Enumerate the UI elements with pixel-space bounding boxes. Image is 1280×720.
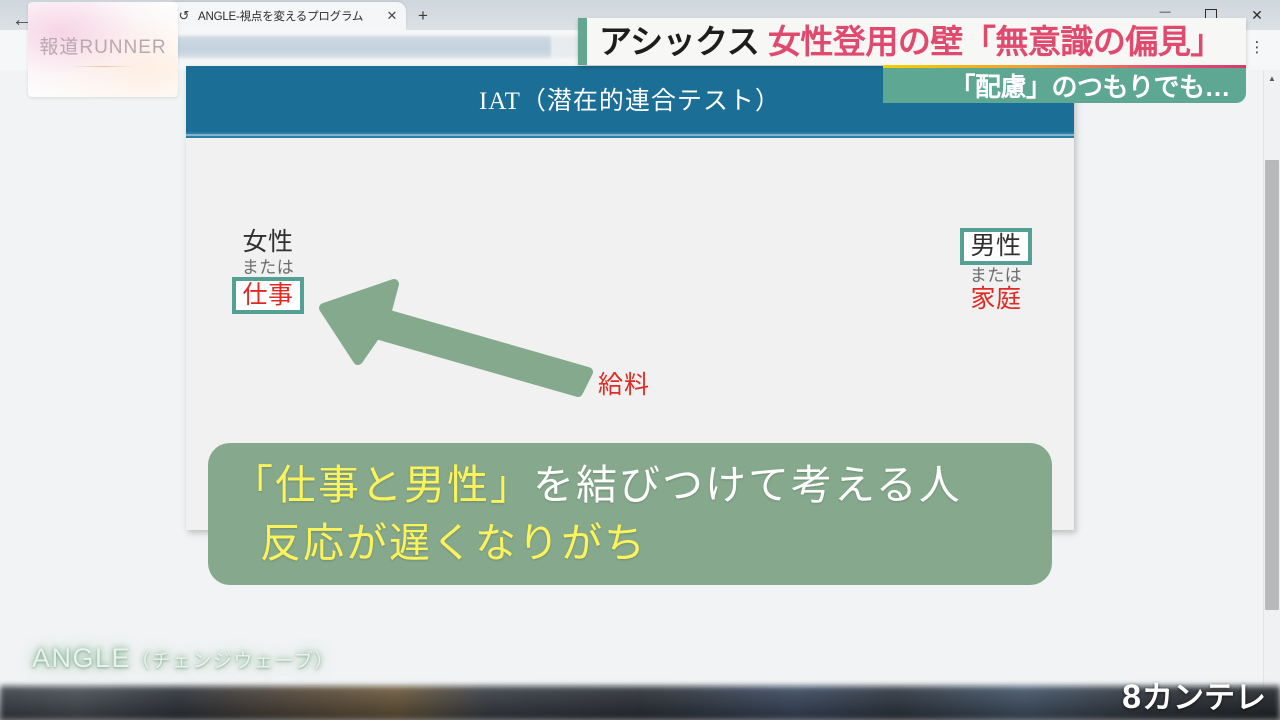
tab-favicon-icon: ↺ [176, 8, 192, 24]
green-arrow-icon [316, 276, 606, 386]
broadcast-subheadline-banner: 「配慮」のつもりでも… [883, 68, 1246, 103]
caption-line-2: 反応が遅くなりがち [232, 514, 1032, 572]
scrollbar-thumb[interactable] [1265, 160, 1279, 610]
program-watermark-rule [71, 66, 135, 68]
caption-line-1-rest: を結びつけて考える人 [533, 462, 962, 508]
angle-watermark: ANGLE（チェンジウェーブ） [32, 643, 335, 674]
category-left-main: 女性 [238, 228, 297, 257]
headline-accent-bar [578, 18, 587, 65]
station-logo-name: カンテレ [1142, 682, 1266, 713]
category-right-connector: または [936, 267, 1056, 285]
headline-topic: 女性登用の壁「無意識の偏見」 [768, 23, 1223, 60]
category-left: 女性 または 仕事 [208, 228, 328, 314]
category-left-sub: 仕事 [232, 277, 303, 314]
headline-company: アシックス [599, 23, 759, 60]
angle-watermark-sub: （チェンジウェーブ） [131, 651, 335, 672]
address-bar-input[interactable] [172, 36, 552, 58]
program-watermark-text: 報道RUNNER [39, 32, 166, 59]
slide-title: IAT（潜在的連合テスト） [479, 81, 781, 117]
category-right-sub: 家庭 [966, 285, 1025, 314]
program-watermark-card: 報道RUNNER [28, 2, 178, 97]
caption-line-1: 「仕事と男性」を結びつけて考える人 [232, 456, 1032, 514]
slide-body: 女性 または 仕事 男性 または 家庭 給料 [186, 138, 1074, 530]
taskbar-shading [0, 686, 1280, 720]
category-right-main: 男性 [960, 228, 1031, 265]
category-right: 男性 または 家庭 [936, 228, 1056, 314]
stimulus-word-label: 給料 [598, 365, 650, 401]
tab-title-label: ANGLE-視点を変えるプログラム [198, 8, 384, 24]
subheadline-text: 「配慮」のつもりでも… [949, 67, 1230, 104]
browser-tab-angle[interactable]: ↺ ANGLE-視点を変えるプログラム ✕ [168, 2, 406, 30]
caption-line-1-highlight: 「仕事と男性」 [232, 462, 533, 508]
broadcast-headline-banner: アシックス 女性登用の壁「無意識の偏見」 [578, 18, 1246, 65]
screenshot-stage: ◎ ↺ ANGLE-視点を変えるプログラム ✕ + ← ⋮ ▲ IAT（潜在的連… [0, 0, 1280, 720]
scroll-up-arrow-icon[interactable]: ▲ [1264, 70, 1280, 87]
angle-watermark-main: ANGLE [32, 643, 131, 673]
iat-slide: IAT（潜在的連合テスト） 女性 または 仕事 男性 または 家庭 [186, 66, 1074, 530]
station-logo: 8 カンテレ [1122, 680, 1266, 714]
new-tab-button[interactable]: + [412, 5, 434, 27]
station-logo-number: 8 [1122, 680, 1139, 714]
page-scrollbar[interactable]: ▲ [1263, 70, 1280, 700]
category-left-connector: または [208, 259, 328, 277]
browser-window: ↺ ANGLE-視点を変えるプログラム ✕ + ← ⋮ ▲ IAT（潜在的連合テ… [0, 0, 1280, 700]
headline-text: アシックス 女性登用の壁「無意識の偏見」 [587, 25, 1246, 58]
browser-more-menu-icon[interactable]: ⋮ [1248, 38, 1266, 58]
caption-panel: 「仕事と男性」を結びつけて考える人 反応が遅くなりがち [208, 443, 1052, 585]
tab-close-icon[interactable]: ✕ [384, 8, 400, 24]
